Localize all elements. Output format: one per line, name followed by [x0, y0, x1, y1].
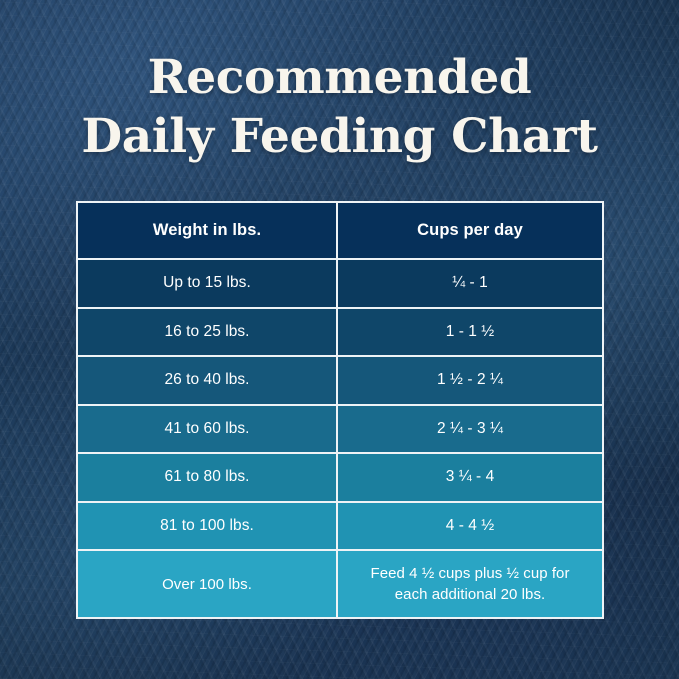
table-row: 81 to 100 lbs. 4 - 4 ½ — [78, 501, 602, 550]
table-row: Over 100 lbs. Feed 4 ½ cups plus ½ cup f… — [78, 549, 602, 617]
cell-weight: 61 to 80 lbs. — [78, 454, 338, 501]
cell-cups: ¼ - 1 — [338, 260, 602, 307]
cell-weight: 81 to 100 lbs. — [78, 503, 338, 550]
table-row: 26 to 40 lbs. 1 ½ - 2 ¼ — [78, 355, 602, 404]
table-row: 16 to 25 lbs. 1 - 1 ½ — [78, 307, 602, 356]
cell-cups: 4 - 4 ½ — [338, 503, 602, 550]
page-title-line-1: Recommended — [0, 48, 679, 107]
cell-cups: 1 - 1 ½ — [338, 309, 602, 356]
feeding-chart-page: Recommended Daily Feeding Chart Weight i… — [0, 0, 679, 679]
cell-weight: Over 100 lbs. — [78, 551, 338, 617]
table-row: 41 to 60 lbs. 2 ¼ - 3 ¼ — [78, 404, 602, 453]
cell-cups: 1 ½ - 2 ¼ — [338, 357, 602, 404]
cell-cups: Feed 4 ½ cups plus ½ cup for each additi… — [338, 551, 602, 617]
table-header-row: Weight in lbs. Cups per day — [78, 203, 602, 258]
cell-weight: 16 to 25 lbs. — [78, 309, 338, 356]
feeding-table: Weight in lbs. Cups per day Up to 15 lbs… — [76, 201, 604, 619]
cell-weight: Up to 15 lbs. — [78, 260, 338, 307]
table-row: 61 to 80 lbs. 3 ¼ - 4 — [78, 452, 602, 501]
page-title: Recommended Daily Feeding Chart — [0, 48, 679, 166]
column-header-cups: Cups per day — [338, 203, 602, 258]
cell-cups: 3 ¼ - 4 — [338, 454, 602, 501]
cell-cups: 2 ¼ - 3 ¼ — [338, 406, 602, 453]
page-title-line-2: Daily Feeding Chart — [0, 107, 679, 166]
cell-weight: 41 to 60 lbs. — [78, 406, 338, 453]
cell-weight: 26 to 40 lbs. — [78, 357, 338, 404]
table-row: Up to 15 lbs. ¼ - 1 — [78, 258, 602, 307]
column-header-weight: Weight in lbs. — [78, 203, 338, 258]
